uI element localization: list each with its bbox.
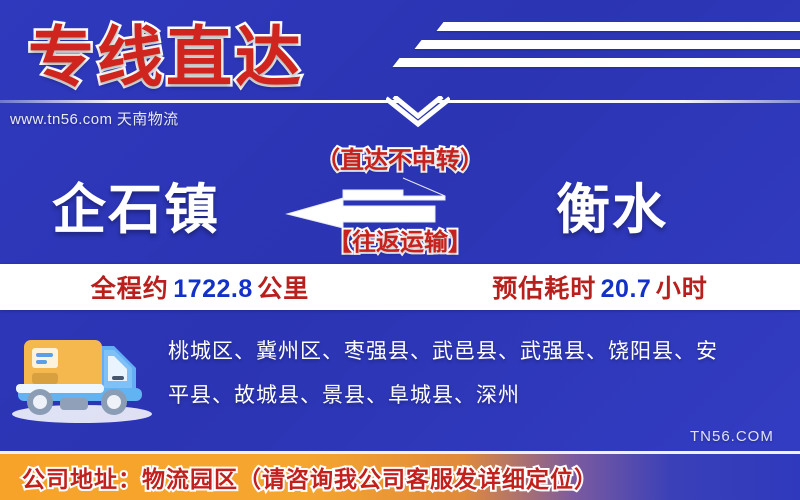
distance-label-suffix: 公里	[257, 275, 309, 303]
duration-info: 预估耗时 20.7 小时	[400, 269, 800, 305]
footer-bar: 公司地址：物流园区（请咨询我公司客服发详细定位）	[0, 454, 800, 500]
decorative-stripe-1	[436, 22, 800, 31]
divider-rule-left	[0, 100, 400, 103]
distance-label-prefix: 全程约	[91, 275, 169, 303]
destination-list-line-2: 平县、故城县、景县、阜城县、深州	[168, 374, 784, 418]
destination-list-line-1: 桃城区、冀州区、枣强县、武邑县、武强县、饶阳县、安	[168, 330, 784, 374]
decorative-stripe-2	[414, 40, 800, 49]
duration-label-prefix: 预估耗时	[492, 275, 596, 303]
logistics-route-poster: 专线直达 www.tn56.com 天南物流 企石镇 衡水 （直达不中转） 【往…	[0, 0, 800, 500]
divider-rule-right	[436, 100, 800, 103]
chevron-down-icon	[386, 96, 450, 132]
badge-direct-no-transfer: （直达不中转）	[0, 140, 800, 175]
duration-value: 20.7	[601, 275, 652, 303]
destination-coverage-list: 桃城区、冀州区、枣强县、武邑县、武强县、饶阳县、安 平县、故城县、景县、阜城县、…	[168, 330, 784, 418]
bidirectional-arrow-icon	[285, 176, 485, 228]
distance-value: 1722.8	[173, 275, 252, 303]
site-watermark: TN56.COM	[690, 428, 774, 445]
delivery-truck-icon	[8, 318, 156, 426]
company-address-label: 公司地址：物流园区（请咨询我公司客服发详细定位）	[0, 460, 598, 494]
route-info-band: 全程约 1722.8 公里 预估耗时 20.7 小时	[0, 264, 800, 310]
duration-label-suffix: 小时	[656, 275, 708, 303]
brand-website-label: www.tn56.com 天南物流	[10, 108, 179, 129]
page-title: 专线直达	[28, 4, 304, 100]
distance-info: 全程约 1722.8 公里	[0, 269, 400, 305]
decorative-stripe-3	[392, 58, 800, 67]
